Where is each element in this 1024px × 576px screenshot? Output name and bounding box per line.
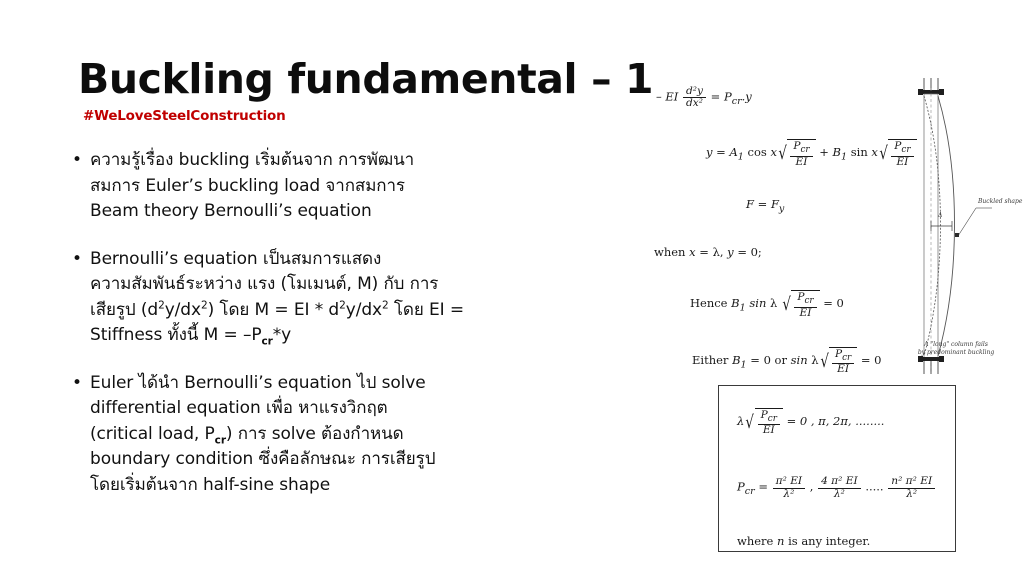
subscript: cr <box>842 353 851 363</box>
fraction-denominator: EI <box>794 307 816 319</box>
text-run: = 0 <box>823 296 844 310</box>
text-run: ..... <box>865 480 883 494</box>
top-plate-end-right <box>939 89 944 95</box>
fraction: PcrEI <box>832 349 854 375</box>
deflection-dimension-arrow <box>931 221 952 231</box>
bullet-body: Bernoulli’s equation เป็นสมการแสดง ความส… <box>90 247 542 349</box>
radical-icon: √ <box>879 147 888 161</box>
text-run: P <box>835 348 842 360</box>
fraction-numerator: d²y <box>683 86 706 97</box>
sqrt-pcr-ei: √PcrEI <box>819 347 858 375</box>
bullet-line: โดยเริ่มต้นจาก half-sine shape <box>90 473 542 499</box>
radical-icon: √ <box>782 298 791 312</box>
text-run: ) โดย M = EI * d <box>208 300 340 320</box>
radical-icon: √ <box>778 147 787 161</box>
text-run: P <box>761 409 768 421</box>
text-run: ) การ solve ต้องกำหนด <box>226 424 404 444</box>
subscript: 1 <box>738 152 744 163</box>
text-run: sin <box>791 353 808 367</box>
equation-pcr-series: Pcr = π² EIλ² , 4 π² EIλ² ..... n² π² EI… <box>737 476 955 499</box>
text-run: *y <box>273 325 291 345</box>
bullet-list: • ความรู้เรื่อง buckling เริ่มต้นจาก การ… <box>72 148 542 520</box>
superscript: 2 <box>201 299 208 311</box>
text-run: λ <box>770 296 777 310</box>
fraction: PcrEI <box>794 292 816 318</box>
fraction-numerator: Pcr <box>794 292 816 306</box>
buckled-shape-label: Buckled shape <box>978 198 1022 205</box>
text-run: = <box>716 145 726 159</box>
bullet-line: Stiffness ทั้งนี้ M = –Pcr*y <box>90 323 542 349</box>
subscript: y <box>779 203 784 214</box>
text-run: sin <box>851 145 868 159</box>
text-run: y/dx <box>165 300 201 320</box>
top-plate-end-left <box>918 89 923 95</box>
text-run: Stiffness ทั้งนี้ M = –P <box>90 325 262 345</box>
caption-line: A "long" column fails <box>896 341 1016 349</box>
deflection-dimension-label: Δ <box>938 212 942 219</box>
fraction-denominator: EI <box>832 363 854 375</box>
bullet-line: differential equation เพื่อ หาแรงวิกฤต <box>90 396 542 422</box>
text-run: λ <box>811 353 818 367</box>
text-run: = 0; <box>734 245 762 259</box>
text-run: B <box>732 353 740 367</box>
fraction-denominator: λ² <box>818 488 861 500</box>
equation-f-equals-fy: F = Fy <box>746 198 900 215</box>
fraction-term-2: 4 π² EIλ² <box>818 476 861 499</box>
subscript: cr <box>768 414 777 424</box>
equation-hence-b1-sin: Hence B1 sin λ √PcrEI = 0 <box>690 290 900 318</box>
leader-anchor-marker <box>955 233 959 237</box>
equation-either-b1-or-sin: Either B1 = 0 or sin λ√PcrEI = 0 <box>692 347 900 375</box>
text-run: P <box>737 480 745 494</box>
subscript: cr <box>745 486 755 497</box>
fraction: PcrEI <box>758 410 780 436</box>
caption-line: by predominant buckling <box>896 349 1016 357</box>
text-run: Hence <box>690 296 731 310</box>
radical-icon: √ <box>820 355 829 369</box>
text-run: , <box>810 480 814 494</box>
bottom-reaction-arrows-icon <box>924 361 938 374</box>
page-title: Buckling fundamental – 1 <box>78 58 638 101</box>
sqrt-pcr-ei: √PcrEI <box>777 139 816 167</box>
slide-subtitle-hashtag: #WeLoveSteelConstruction <box>83 108 638 124</box>
fraction-denominator: dx² <box>683 97 706 109</box>
text-run: = <box>758 480 768 494</box>
text-run: Either <box>692 353 732 367</box>
text-run: y <box>706 145 713 159</box>
text-run: = 0 or <box>747 353 791 367</box>
bullet-marker-icon: • <box>72 148 90 174</box>
fraction-numerator: n² π² EI <box>888 476 935 487</box>
result-note: where n is any integer. <box>737 534 955 548</box>
equation-lambda-sqrt-series: λ√PcrEI = 0 , π, 2π, ........ <box>737 408 955 436</box>
subscript: cr <box>262 335 273 347</box>
fraction-term-1: π² EIλ² <box>773 476 805 499</box>
text-run: – <box>656 90 662 104</box>
fraction-denominator: EI <box>790 156 812 168</box>
figure-caption: A "long" column fails by predominant buc… <box>896 341 1016 357</box>
fraction-numerator: Pcr <box>758 410 780 424</box>
equation-boundary-condition: when x = λ, y = 0; <box>654 246 900 260</box>
fraction-numerator: π² EI <box>773 476 805 487</box>
radicand: PcrEI <box>791 290 819 318</box>
bullet-body: Euler ได้นำ Bernoulli’s equation ไป solv… <box>90 371 542 499</box>
subscript: cr <box>215 434 226 446</box>
fraction-denominator: λ² <box>888 488 935 500</box>
text-run: โดย EI = <box>389 300 464 320</box>
subscript: cr <box>800 145 809 155</box>
text-run: เสียรูป (d <box>90 300 158 320</box>
equation-governing-ode: – EI d²y dx² = Pcr.y <box>656 86 900 109</box>
radicand: PcrEI <box>787 139 815 167</box>
sqrt-pcr-ei: √PcrEI <box>744 408 783 436</box>
radicand: PcrEI <box>829 347 857 375</box>
list-item: • ความรู้เรื่อง buckling เริ่มต้นจาก การ… <box>72 148 542 225</box>
bullet-line: ความรู้เรื่อง buckling เริ่มต้นจาก การพั… <box>90 148 542 174</box>
fraction-term-n: n² π² EIλ² <box>888 476 935 499</box>
derivation-panel: – EI d²y dx² = Pcr.y y = A1 cos x√PcrEI … <box>650 78 900 375</box>
text-run: = 0 <box>861 353 882 367</box>
radical-icon: √ <box>746 416 755 430</box>
text-run: when <box>654 245 689 259</box>
text-run: is any integer. <box>784 534 870 548</box>
text-run: = 0 , π, 2π, ........ <box>787 414 885 428</box>
fraction-numerator: Pcr <box>832 349 854 363</box>
fraction-denominator: EI <box>758 424 780 436</box>
text-run: .y <box>742 90 752 104</box>
text-run: F <box>771 197 779 211</box>
text-run: y/dx <box>346 300 382 320</box>
subscript: cr <box>732 96 742 107</box>
slide-canvas: Buckling fundamental – 1 #WeLoveSteelCon… <box>0 0 1024 576</box>
subscript: 1 <box>740 303 746 314</box>
list-item: • Euler ได้นำ Bernoulli’s equation ไป so… <box>72 371 542 499</box>
fraction-denominator: λ² <box>773 488 805 500</box>
fraction-d2y-dx2: d²y dx² <box>683 86 706 109</box>
bullet-body: ความรู้เรื่อง buckling เริ่มต้นจาก การพั… <box>90 148 542 225</box>
bullet-line: boundary condition ซึ่งคือลักษณะ การเสีย… <box>90 447 542 473</box>
text-run: = <box>758 197 768 211</box>
list-item: • Bernoulli’s equation เป็นสมการแสดง ควา… <box>72 247 542 349</box>
bullet-line: Bernoulli’s equation เป็นสมการแสดง <box>90 247 542 273</box>
fraction: PcrEI <box>790 141 812 167</box>
title-block: Buckling fundamental – 1 #WeLoveSteelCon… <box>78 58 638 124</box>
bullet-line: สมการ Euler’s buckling load จากสมการ <box>90 174 542 200</box>
text-run: EI <box>665 90 678 104</box>
subscript: 1 <box>841 152 847 163</box>
text-run: F <box>746 197 754 211</box>
text-run: B <box>731 296 739 310</box>
superscript: 2 <box>339 299 346 311</box>
bullet-line: Euler ได้นำ Bernoulli’s equation ไป solv… <box>90 371 542 397</box>
text-run: cos <box>748 145 767 159</box>
bullet-line: (critical load, Pcr) การ solve ต้องกำหนด <box>90 422 542 448</box>
text-run: = λ, <box>696 245 728 259</box>
subscript: cr <box>804 296 813 306</box>
text-run: A <box>729 145 737 159</box>
bullet-marker-icon: • <box>72 247 90 273</box>
text-run: sin <box>749 296 766 310</box>
superscript: 2 <box>158 299 165 311</box>
buckled-shape-leader-line <box>958 208 992 236</box>
equation-general-solution: y = A1 cos x√PcrEI + B1 sin x√PcrEI <box>706 139 900 167</box>
bullet-marker-icon: • <box>72 371 90 397</box>
fraction-numerator: 4 π² EI <box>818 476 861 487</box>
text-run: B <box>833 145 841 159</box>
bullet-line: Beam theory Bernoulli’s equation <box>90 199 542 225</box>
bullet-line: เสียรูป (d2y/dx2) โดย M = EI * d2y/dx2 โ… <box>90 298 542 324</box>
text-run: λ <box>737 414 744 428</box>
text-run: = <box>711 90 721 104</box>
text-run: + <box>819 145 829 159</box>
radicand: PcrEI <box>755 408 783 436</box>
text-run: P <box>724 90 732 104</box>
bullet-line: ความสัมพันธ์ระหว่าง แรง (โมเมนต์, M) กับ… <box>90 272 542 298</box>
superscript: 2 <box>382 299 389 311</box>
sqrt-pcr-ei: √PcrEI <box>781 290 820 318</box>
column-buckling-diagram <box>888 76 1022 376</box>
text-run: (critical load, P <box>90 424 215 444</box>
fraction-numerator: Pcr <box>790 141 812 155</box>
result-box: λ√PcrEI = 0 , π, 2π, ........ Pcr = π² E… <box>718 385 956 552</box>
text-run: where <box>737 534 777 548</box>
